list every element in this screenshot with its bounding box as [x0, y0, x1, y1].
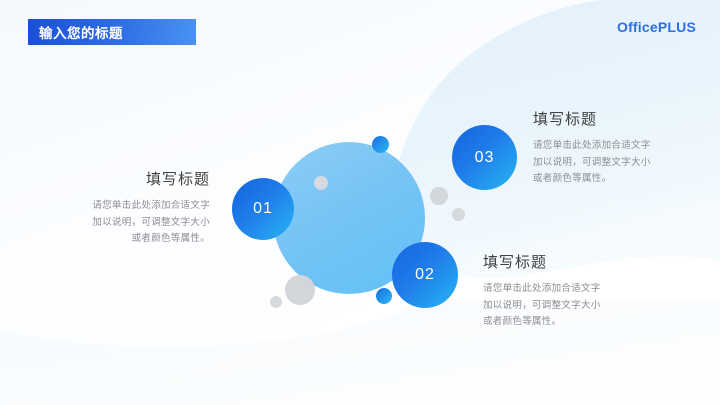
number-badge-02[interactable]: 02: [392, 242, 458, 308]
blue-dot-icon: [372, 136, 389, 153]
slide-title-text: 输入您的标题: [39, 22, 123, 42]
text-block-body-line: 加以说明，可调整文字大小: [62, 215, 210, 232]
text-block-01: 填写标题 请您单击此处添加合适文字 加以说明，可调整文字大小 或者颜色等属性。: [62, 168, 210, 248]
brand-logo[interactable]: OfficePLUS: [617, 19, 696, 35]
number-badge-label: 01: [253, 200, 273, 218]
text-block-body: 请您单击此处添加合适文字 加以说明，可调整文字大小 或者颜色等属性。: [533, 138, 693, 188]
number-badge-label: 02: [415, 266, 435, 284]
text-block-body-line: 或者颜色等属性。: [62, 231, 210, 248]
text-block-body-line: 加以说明，可调整文字大小: [533, 155, 693, 172]
text-block-body-line: 请您单击此处添加合适文字: [533, 138, 693, 155]
slide-title-banner[interactable]: 输入您的标题: [28, 19, 196, 45]
gray-dot-icon: [452, 208, 465, 221]
gray-dot-icon: [314, 176, 328, 190]
text-block-body-line: 加以说明，可调整文字大小: [483, 298, 643, 315]
text-block-body: 请您单击此处添加合适文字 加以说明，可调整文字大小 或者颜色等属性。: [62, 198, 210, 248]
slide-canvas: 输入您的标题 OfficePLUS 01 02 03 填写标题 请您单击此处添加…: [0, 0, 720, 405]
gray-dot-icon: [430, 187, 448, 205]
text-block-02: 填写标题 请您单击此处添加合适文字 加以说明，可调整文字大小 或者颜色等属性。: [483, 251, 643, 331]
number-badge-03[interactable]: 03: [452, 125, 517, 190]
text-block-body-line: 或者颜色等属性。: [533, 171, 693, 188]
text-block-heading: 填写标题: [533, 108, 693, 129]
text-block-body-line: 请您单击此处添加合适文字: [62, 198, 210, 215]
text-block-body-line: 或者颜色等属性。: [483, 314, 643, 331]
number-badge-01[interactable]: 01: [232, 178, 294, 240]
gray-dot-icon: [270, 296, 282, 308]
text-block-body: 请您单击此处添加合适文字 加以说明，可调整文字大小 或者颜色等属性。: [483, 281, 643, 331]
number-badge-label: 03: [475, 149, 495, 167]
text-block-heading: 填写标题: [483, 251, 643, 272]
blue-dot-icon: [376, 288, 392, 304]
text-block-03: 填写标题 请您单击此处添加合适文字 加以说明，可调整文字大小 或者颜色等属性。: [533, 108, 693, 188]
text-block-body-line: 请您单击此处添加合适文字: [483, 281, 643, 298]
gray-dot-icon: [285, 275, 315, 305]
text-block-heading: 填写标题: [62, 168, 210, 189]
